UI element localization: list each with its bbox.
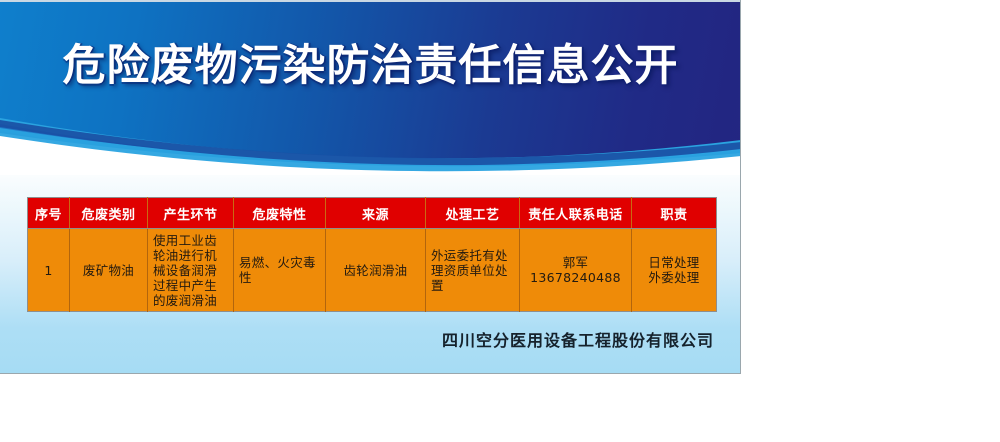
cell-duty: 日常处理 外委处理 [632, 229, 717, 312]
page-title: 危险废物污染防治责任信息公开 [0, 40, 741, 92]
hazardous-waste-table: 序号 危废类别 产生环节 危废特性 来源 处理工艺 责任人联系电话 职责 1 废… [27, 197, 717, 312]
duty-line-2: 外委处理 [637, 270, 711, 285]
column-header-treatment: 处理工艺 [426, 198, 520, 229]
poster-banner: 危险废物污染防治责任信息公开 [0, 0, 741, 175]
column-header-source: 来源 [326, 198, 426, 229]
column-header-contact-phone: 责任人联系电话 [520, 198, 632, 229]
cell-category: 废矿物油 [70, 229, 148, 312]
column-header-category: 危废类别 [70, 198, 148, 229]
column-header-index: 序号 [28, 198, 70, 229]
table-row: 1 废矿物油 使用工业齿轮油进行机械设备润滑过程中产生的废润滑油 易燃、火灾毒性… [28, 229, 717, 312]
hazardous-waste-table-wrapper: 序号 危废类别 产生环节 危废特性 来源 处理工艺 责任人联系电话 职责 1 废… [27, 197, 716, 312]
information-disclosure-poster: 危险废物污染防治责任信息公开 序号 危废类别 [0, 0, 741, 374]
contact-phone: 13678240488 [525, 270, 626, 285]
screenshot-root: 危险废物污染防治责任信息公开 序号 危废类别 [0, 0, 1000, 442]
column-header-duty: 职责 [632, 198, 717, 229]
cell-index: 1 [28, 229, 70, 312]
contact-name: 郭军 [525, 255, 626, 270]
cell-treatment: 外运委托有处理资质单位处置 [426, 229, 520, 312]
cell-source: 齿轮润滑油 [326, 229, 426, 312]
cell-generation-stage: 使用工业齿轮油进行机械设备润滑过程中产生的废润滑油 [148, 229, 234, 312]
column-header-generation-stage: 产生环节 [148, 198, 234, 229]
duty-line-1: 日常处理 [637, 255, 711, 270]
company-name: 四川空分医用设备工程股份有限公司 [0, 327, 714, 351]
cell-contact: 郭军 13678240488 [520, 229, 632, 312]
table-header-row: 序号 危废类别 产生环节 危废特性 来源 处理工艺 责任人联系电话 职责 [28, 198, 717, 229]
cell-hazard-property: 易燃、火灾毒性 [234, 229, 326, 312]
column-header-hazard-property: 危废特性 [234, 198, 326, 229]
